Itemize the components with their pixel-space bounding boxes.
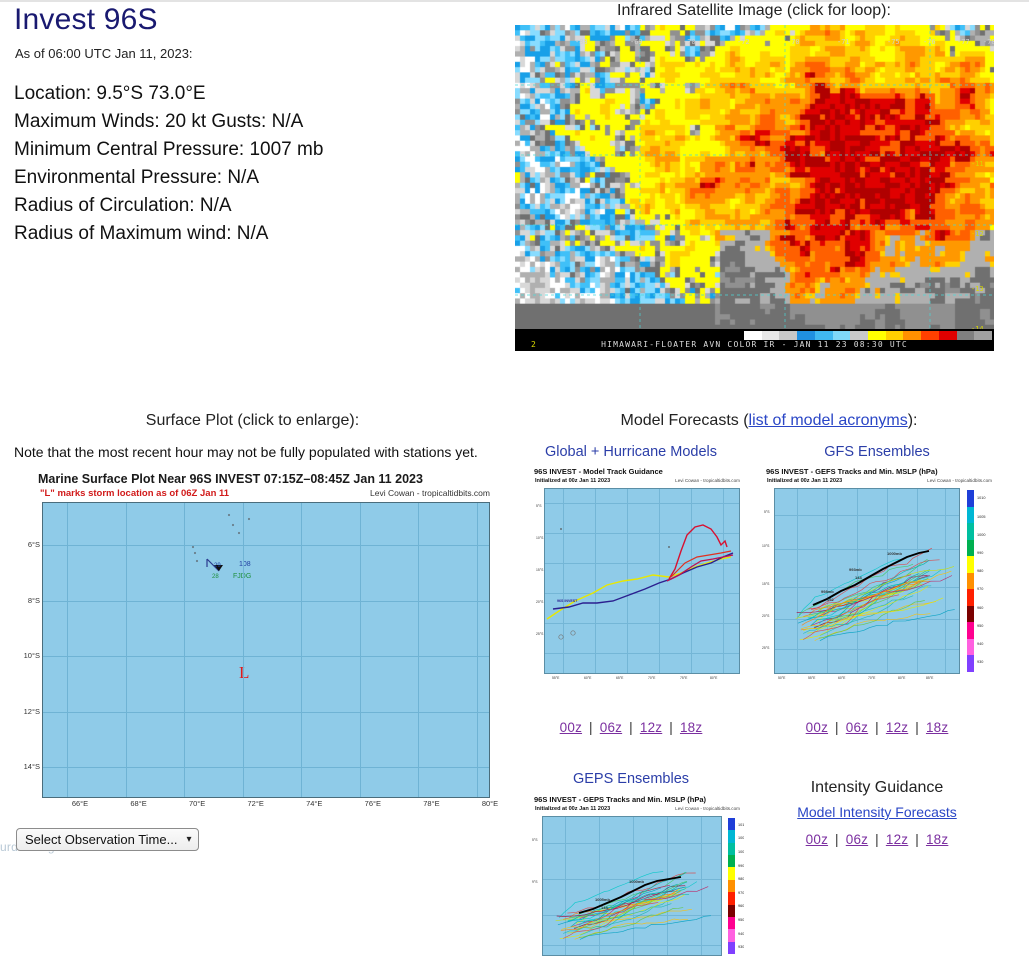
chart-geps-tracks[interactable]: 96S INVEST - GEPS Tracks and Min. MSLP (… <box>528 792 744 958</box>
satellite-lat-label: -12 <box>971 230 984 238</box>
surface-plot-x-tick: 74°E <box>297 799 331 808</box>
surface-plot-y-tick: 10°S <box>14 651 40 660</box>
gefs-ensemble-lines <box>775 489 961 675</box>
observation-time-select-wrap[interactable]: Select Observation Time... ▾ <box>16 828 199 851</box>
pressure-colorbar <box>967 490 974 672</box>
chart-model-track-guidance[interactable]: 96S INVEST - Model Track Guidance Initia… <box>528 464 744 704</box>
colorbar-tick: 970 <box>977 587 983 591</box>
satellite-temp-label: -77 <box>957 38 970 46</box>
surface-plot-y-tick: 6°S <box>14 540 40 549</box>
colorbar-tick: 980 <box>977 569 983 573</box>
model-acronyms-link[interactable]: list of model acronyms <box>749 412 908 429</box>
satellite-temp-label: -71 <box>837 38 850 46</box>
time-link-06z[interactable]: 06z <box>846 720 868 735</box>
link-separator: | <box>835 720 839 735</box>
model-forecasts-prefix: Model Forecasts ( <box>621 412 749 429</box>
link-separator: | <box>835 832 839 847</box>
column-header-intensity-guidance: Intensity Guidance <box>760 779 994 797</box>
colorbar-tick: 940 <box>977 642 983 646</box>
satellite-color-scale <box>744 331 992 340</box>
info-env-pressure: Environmental Pressure: N/A <box>14 164 484 192</box>
surface-plot-y-tick: 14°S <box>14 762 40 771</box>
chart-credit: Levi Cowan - tropicaltidbits.com <box>675 806 740 811</box>
time-link-06z[interactable]: 06z <box>846 832 868 847</box>
time-link-18z[interactable]: 18z <box>680 720 702 735</box>
colorbar-tick: 990 <box>977 551 983 555</box>
chart-plot-area: 1000mb 993mb 144 998mb 192 <box>774 488 960 674</box>
satellite-lat-label: -13 <box>971 285 984 293</box>
satellite-temp-label: -76 <box>923 38 936 46</box>
surface-plot-credit: Levi Cowan - tropicaltidbits.com <box>370 488 490 498</box>
satellite-temp-label: -72 <box>737 38 750 46</box>
model-forecasts-heading: Model Forecasts (list of model acronyms)… <box>513 412 1025 430</box>
surface-plot-axes: L 29 108 28 FJDG <box>42 502 490 798</box>
as-of-timestamp: As of 06:00 UTC Jan 11, 2023: <box>15 46 193 61</box>
colorbar-tick: 1005 <box>977 515 985 519</box>
time-link-12z[interactable]: 12z <box>886 720 908 735</box>
column-header-geps-ensembles: GEPS Ensembles <box>516 771 746 787</box>
satellite-temp-label: -69 <box>630 38 643 46</box>
surface-plot-x-tick: 72°E <box>239 799 273 808</box>
info-radius-circ: Radius of Circulation: N/A <box>14 192 484 220</box>
chart-init: Initialized at 00z Jan 11 2023 <box>535 478 610 484</box>
satellite-footer-text: HIMAWARI-FLOATER AVN COLOR IR - JAN 11 2… <box>515 340 994 349</box>
surface-plot-title: Marine Surface Plot Near 96S INVEST 07:1… <box>38 472 423 486</box>
chart-title: 96S INVEST - Model Track Guidance <box>534 467 663 476</box>
colorbar-tick: 1000 <box>977 533 985 537</box>
satellite-temp-label: -70 <box>683 38 696 46</box>
chart-gefs-tracks[interactable]: 96S INVEST - GEFS Tracks and Min. MSLP (… <box>760 464 996 704</box>
surface-plot-y-tick: 8°S <box>14 596 40 605</box>
surface-plot-heading: Surface Plot (click to enlarge): <box>0 412 505 430</box>
colorbar-tick: 980 <box>738 877 744 881</box>
time-link-18z[interactable]: 18z <box>926 832 948 847</box>
satellite-temp-label: -88 <box>575 38 588 46</box>
select-observation-time[interactable]: Select Observation Time... ▾ <box>16 828 199 851</box>
time-links-intensity-guidance[interactable]: 00z|06z|12z|18z <box>760 832 994 847</box>
colorbar-tick: 960 <box>977 606 983 610</box>
model-track-lines <box>545 489 741 675</box>
time-link-18z[interactable]: 18z <box>926 720 948 735</box>
geps-ensemble-lines <box>543 817 723 957</box>
chart-title: 96S INVEST - GEPS Tracks and Min. MSLP (… <box>534 795 706 804</box>
link-separator: | <box>875 720 879 735</box>
info-location: Location: 9.5°S 73.0°E <box>14 80 484 108</box>
chart-plot-area: 1000mb 1005mb 144 <box>542 816 722 956</box>
pressure-colorbar <box>728 818 735 954</box>
time-link-00z[interactable]: 00z <box>806 832 828 847</box>
chart-title: 96S INVEST - GEFS Tracks and Min. MSLP (… <box>766 467 938 476</box>
satellite-footer-bar: 2 HIMAWARI-FLOATER AVN COLOR IR - JAN 11… <box>515 329 994 351</box>
surface-plot-x-tick: 70°E <box>180 799 214 808</box>
time-link-00z[interactable]: 00z <box>806 720 828 735</box>
time-link-12z[interactable]: 12z <box>640 720 662 735</box>
surface-plot-x-tick: 68°E <box>122 799 156 808</box>
link-separator: | <box>589 720 593 735</box>
surface-plot-subtitle: "L" marks storm location as of 06Z Jan 1… <box>40 488 229 499</box>
surface-plot-x-tick: 80°E <box>473 799 498 808</box>
time-links-gfs-ensembles[interactable]: 00z|06z|12z|18z <box>760 720 994 735</box>
colorbar-tick: 930 <box>738 945 744 949</box>
page-title: Invest 96S <box>14 2 158 38</box>
time-links-global-models[interactable]: 00z|06z|12z|18z <box>516 720 746 735</box>
surface-plot-y-tick: 12°S <box>14 707 40 716</box>
link-separator: | <box>915 720 919 735</box>
chevron-down-icon: ▾ <box>186 834 191 845</box>
time-link-12z[interactable]: 12z <box>886 832 908 847</box>
model-intensity-forecasts-link-wrap[interactable]: Model Intensity Forecasts <box>760 804 994 820</box>
colorbar-tick: 940 <box>738 932 744 936</box>
surface-plot-x-tick: 78°E <box>414 799 448 808</box>
info-radius-max: Radius of Maximum wind: N/A <box>14 220 484 248</box>
link-separator: | <box>669 720 673 735</box>
link-separator: | <box>875 832 879 847</box>
model-forecasts-suffix: ): <box>908 412 918 429</box>
colorbar-tick: 1000 <box>738 850 744 854</box>
colorbar-tick: 1005 <box>738 836 744 840</box>
colorbar-tick: 950 <box>738 918 744 922</box>
surface-plot-note: Note that the most recent hour may not b… <box>14 444 478 460</box>
info-max-winds: Maximum Winds: 20 kt Gusts: N/A <box>14 108 484 136</box>
chart-credit: Levi Cowan - tropicaltidbits.com <box>927 478 992 483</box>
surface-plot-station-dots <box>43 503 489 797</box>
select-observation-time-label: Select Observation Time... <box>25 832 177 847</box>
satellite-canvas <box>515 25 994 351</box>
link-separator: | <box>915 832 919 847</box>
satellite-temp-label: -70 <box>787 38 800 46</box>
colorbar-tick: 960 <box>738 904 744 908</box>
infrared-satellite-image[interactable]: -88-69-70-72-70-71-75-76-77-78 -11-12-13… <box>515 25 994 351</box>
chart-init: Initialized at 00z Jan 11 2023 <box>535 806 610 812</box>
colorbar-tick: 930 <box>977 660 983 664</box>
time-link-00z[interactable]: 00z <box>560 720 582 735</box>
satellite-temp-label: -78 <box>983 38 994 46</box>
satellite-heading: Infrared Satellite Image (click for loop… <box>513 2 995 20</box>
chart-plot-area: 96S INVEST <box>544 488 740 674</box>
colorbar-tick: 990 <box>738 864 744 868</box>
colorbar-tick: 950 <box>977 624 983 628</box>
surface-plot-x-tick: 76°E <box>356 799 390 808</box>
column-header-global-hurricane-models: Global + Hurricane Models <box>516 444 746 460</box>
colorbar-tick: 1010 <box>977 496 985 500</box>
link-separator: | <box>629 720 633 735</box>
surface-plot-x-tick: 66°E <box>63 799 97 808</box>
chart-init: Initialized at 00z Jan 11 2023 <box>767 478 842 484</box>
model-intensity-forecasts-link[interactable]: Model Intensity Forecasts <box>797 804 957 820</box>
page-root: Invest 96S As of 06:00 UTC Jan 11, 2023:… <box>0 0 1029 958</box>
colorbar-tick: 1010 <box>738 823 744 827</box>
surface-plot-image[interactable]: Marine Surface Plot Near 96S INVEST 07:1… <box>14 468 498 830</box>
colorbar-tick: 970 <box>738 891 744 895</box>
satellite-temp-label: -75 <box>887 38 900 46</box>
column-header-gfs-ensembles: GFS Ensembles <box>760 444 994 460</box>
chart-credit: Levi Cowan - tropicaltidbits.com <box>675 478 740 483</box>
storm-info-list: Location: 9.5°S 73.0°E Maximum Winds: 20… <box>14 80 484 248</box>
info-min-pressure: Minimum Central Pressure: 1007 mb <box>14 136 484 164</box>
time-link-06z[interactable]: 06z <box>600 720 622 735</box>
satellite-lat-label: -11 <box>971 160 984 168</box>
